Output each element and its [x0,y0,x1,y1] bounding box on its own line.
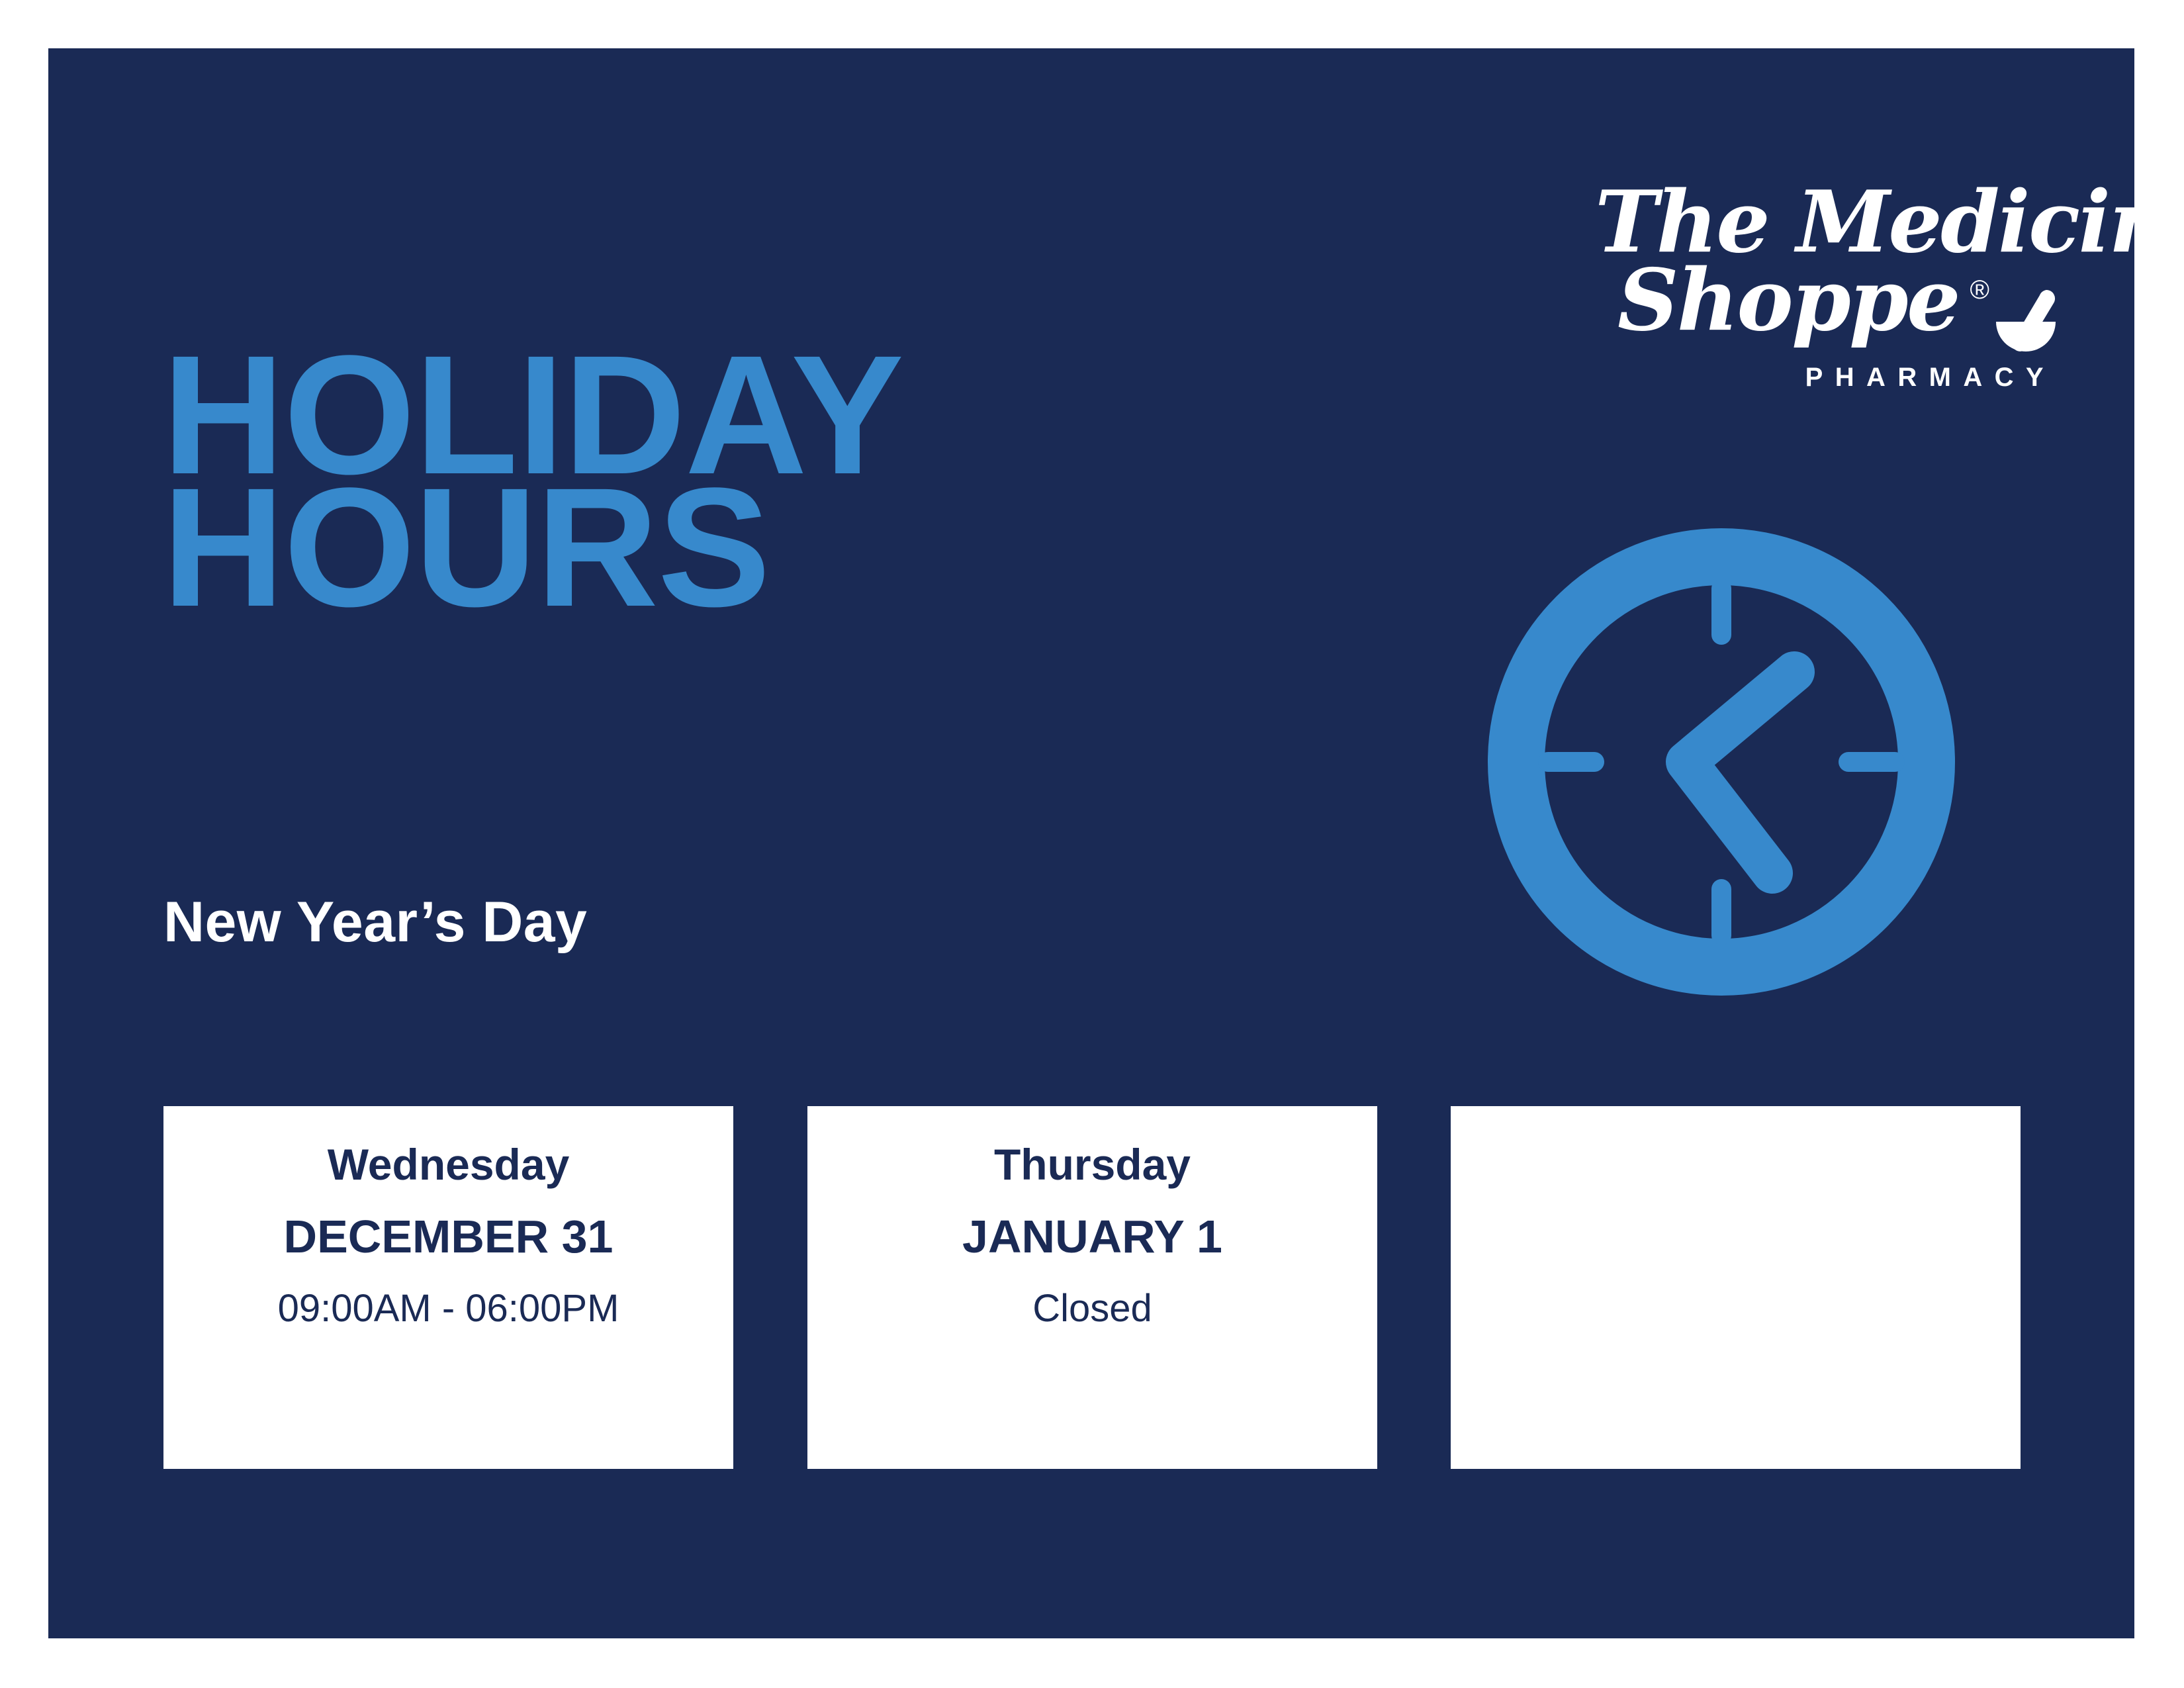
holiday-hours-poster: The Medicine Shoppe ® PHARMACY HOLIDAY H… [48,48,2134,1638]
mortar-and-pestle-icon [1989,287,2058,359]
logo-script-line-2: Shoppe [1617,262,1959,340]
brand-logo: The Medicine Shoppe ® PHARMACY [1595,184,2058,412]
logo-tagline: PHARMACY [1805,364,2056,391]
day-card: Thursday JANUARY 1 Closed [807,1106,1377,1469]
day-card-hours: 09:00AM - 06:00PM [182,1288,715,1330]
day-card: Wednesday DECEMBER 31 09:00AM - 06:00PM [163,1106,733,1469]
day-card-empty [1451,1106,2021,1469]
logo-script-line-2-row: Shoppe ® [1595,262,2058,361]
registered-trademark-icon: ® [1970,277,1989,303]
clock-icon [1488,528,1955,996]
page-title: HOLIDAY HOURS [162,350,903,614]
day-card-date: DECEMBER 31 [182,1211,715,1262]
page-subtitle: New Year’s Day [163,894,587,951]
day-card-weekday: Wednesday [182,1141,715,1189]
day-card-date: JANUARY 1 [826,1211,1359,1262]
day-card-hours: Closed [826,1288,1359,1330]
day-card-weekday: Thursday [826,1141,1359,1189]
